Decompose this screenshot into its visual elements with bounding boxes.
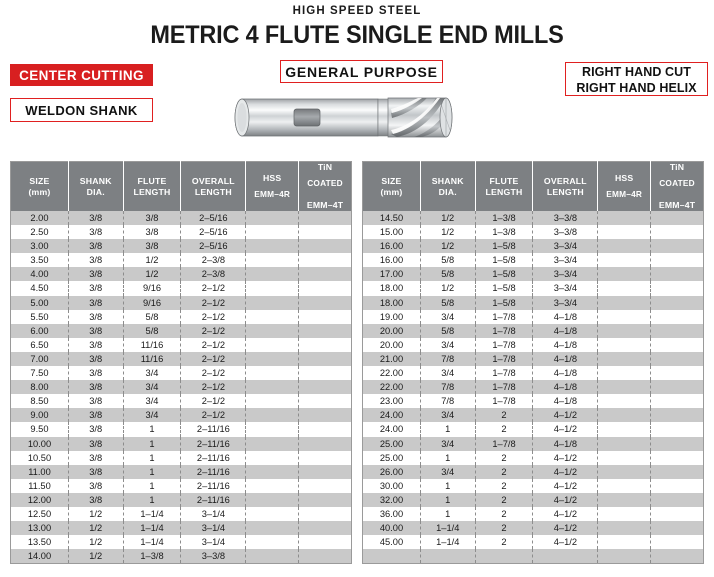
cell-hss [598,521,651,535]
column-header-size: SIZE(mm) [363,162,421,212]
cell-shank-dia: 3/8 [68,493,123,507]
table-row: 24.00124–1/2 [363,422,704,436]
table-row: 36.00124–1/2 [363,507,704,521]
cell-tin-coated [299,296,352,310]
cell-overall-length: 4–1/8 [533,437,598,451]
column-header-subtitle: DIA. [87,187,105,197]
cell-shank-dia: 3/4 [420,437,475,451]
cell-tin-coated [651,211,704,225]
column-header-overall-length: OVERALLLENGTH [533,162,598,212]
cell-hss [598,549,651,564]
cell-hss [246,281,299,295]
cell-size: 45.00 [363,535,421,549]
cell-tin-coated [651,408,704,422]
cell-size: 5.50 [11,310,69,324]
cell-flute-length: 1–7/8 [475,437,533,451]
cell-hss [246,239,299,253]
cell-flute-length: 1–7/8 [475,310,533,324]
cell-overall-length: 4–1/2 [533,479,598,493]
cell-tin-coated [651,479,704,493]
column-header-subtitle-2: EMM–4T [659,200,695,210]
cell-flute-length: 1–3/8 [475,211,533,225]
cell-shank-dia: 3/8 [68,408,123,422]
flute-section [388,98,452,137]
table-row: 4.503/89/162–1/2 [11,281,352,295]
cell-hss [598,281,651,295]
cell-size: 12.50 [11,507,69,521]
cell-size [363,549,421,564]
table-header-left: SIZE(mm)SHANKDIA.FLUTELENGTHOVERALLLENGT… [11,162,352,212]
cell-shank-dia: 1 [420,507,475,521]
table-row: 10.503/812–11/16 [11,451,352,465]
cell-hss [246,310,299,324]
cell-size: 24.00 [363,422,421,436]
column-header-subtitle: EMM–4R [247,189,297,200]
cell-shank-dia: 3/8 [68,366,123,380]
cell-hss [598,437,651,451]
cell-size: 25.00 [363,451,421,465]
cell-shank-dia: 1/2 [68,549,123,564]
column-header-title: SIZE [29,176,49,186]
cell-tin-coated [299,352,352,366]
cell-hss [246,535,299,549]
cell-overall-length: 3–3/4 [533,281,598,295]
column-header-subtitle: LENGTH [486,187,523,197]
cell-flute-length: 2 [475,493,533,507]
table-row: 4.003/81/22–3/8 [11,267,352,281]
column-header-tin-coated: TiNCOATEDEMM–4T [299,162,352,212]
cell-shank-dia: 3/8 [68,253,123,267]
cell-overall-length: 2–5/16 [181,211,246,225]
table-row: 9.503/812–11/16 [11,422,352,436]
cell-tin-coated [299,366,352,380]
cell-flute-length: 1–3/8 [475,225,533,239]
cell-hss [598,493,651,507]
cell-tin-coated [651,225,704,239]
badge-right-hand-cut-label: RIGHT HAND CUT [566,64,707,80]
cell-tin-coated [299,324,352,338]
cell-shank-dia: 1/2 [68,507,123,521]
cell-overall-length: 2–1/2 [181,366,246,380]
cell-shank-dia: 7/8 [420,352,475,366]
column-header-subtitle-2: EMM–4T [307,200,343,210]
badge-right-hand: RIGHT HAND CUT RIGHT HAND HELIX [565,62,708,96]
table-header-right: SIZE(mm)SHANKDIA.FLUTELENGTHOVERALLLENGT… [363,162,704,212]
cell-hss [598,380,651,394]
table-row: 18.005/81–5/83–3/4 [363,296,704,310]
cell-flute-length: 3/8 [123,211,181,225]
cell-flute-length: 1 [123,422,181,436]
column-header-flute-length: FLUTELENGTH [475,162,533,212]
column-header-subtitle: (mm) [380,187,402,197]
cell-size: 14.00 [11,549,69,564]
cell-size: 10.50 [11,451,69,465]
spec-tables-container: SIZE(mm)SHANKDIA.FLUTELENGTHOVERALLLENGT… [0,161,714,564]
table-row: 20.003/41–7/84–1/8 [363,338,704,352]
column-header-shank-dia: SHANKDIA. [68,162,123,212]
column-header-title: TiN [670,162,684,172]
cell-tin-coated [651,253,704,267]
cell-overall-length: 2–1/2 [181,296,246,310]
column-header-title: SHANK [432,176,464,186]
cell-overall-length: 2–1/2 [181,338,246,352]
cell-overall-length: 3–3/4 [533,253,598,267]
cell-overall-length [533,549,598,564]
cell-tin-coated [651,296,704,310]
table-row: 2.503/83/82–5/16 [11,225,352,239]
cell-hss [598,465,651,479]
cell-hss [246,296,299,310]
cell-tin-coated [299,479,352,493]
cell-shank-dia: 1/2 [68,535,123,549]
cell-shank-dia: 3/8 [68,267,123,281]
table-row: 5.003/89/162–1/2 [11,296,352,310]
cell-tin-coated [651,310,704,324]
header-row: SIZE(mm)SHANKDIA.FLUTELENGTHOVERALLLENGT… [363,162,704,212]
cell-tin-coated [651,465,704,479]
cell-overall-length: 3–3/4 [533,239,598,253]
cell-shank-dia: 3/8 [68,451,123,465]
cell-flute-length: 1–7/8 [475,324,533,338]
cell-size: 18.00 [363,281,421,295]
cell-size: 6.00 [11,324,69,338]
cell-overall-length: 2–5/16 [181,239,246,253]
cell-overall-length: 4–1/8 [533,352,598,366]
cell-size: 12.00 [11,493,69,507]
cell-flute-length: 1 [123,493,181,507]
column-header-hss: HSSEMM–4R [598,162,651,212]
table-row: 14.501/21–3/83–3/8 [363,211,704,225]
table-row: 8.003/83/42–1/2 [11,380,352,394]
cell-tin-coated [299,493,352,507]
cell-overall-length: 2–3/8 [181,253,246,267]
cell-hss [246,352,299,366]
table-body-right: 14.501/21–3/83–3/815.001/21–3/83–3/816.0… [363,211,704,564]
cell-size: 14.50 [363,211,421,225]
column-header-title: FLUTE [138,176,167,186]
cell-hss [598,267,651,281]
cell-tin-coated [299,465,352,479]
cell-shank-dia: 1/2 [68,521,123,535]
cell-tin-coated [299,394,352,408]
cell-shank-dia: 1 [420,493,475,507]
table-row: 20.005/81–7/84–1/8 [363,324,704,338]
cell-tin-coated [651,267,704,281]
cell-size: 16.00 [363,239,421,253]
cell-size: 9.00 [11,408,69,422]
cell-hss [246,253,299,267]
cell-hss [598,394,651,408]
cell-shank-dia: 5/8 [420,267,475,281]
table-row: 16.005/81–5/83–3/4 [363,253,704,267]
cell-tin-coated [299,422,352,436]
cell-shank-dia: 3/8 [68,239,123,253]
cell-shank-dia: 1 [420,422,475,436]
cell-tin-coated [299,380,352,394]
cell-shank-dia: 5/8 [420,324,475,338]
table-row: 13.501/21–1/43–1/4 [11,535,352,549]
cell-flute-length: 5/8 [123,324,181,338]
table-row: 12.003/812–11/16 [11,493,352,507]
column-header-hss: HSSEMM–4R [246,162,299,212]
badge-weldon-shank: WELDON SHANK [10,98,153,122]
cell-shank-dia: 5/8 [420,296,475,310]
column-header-subtitle: LENGTH [134,187,171,197]
cell-flute-length: 1–1/4 [123,507,181,521]
cell-flute-length: 1–7/8 [475,394,533,408]
cell-shank-dia: 1/2 [420,225,475,239]
cell-overall-length: 2–11/16 [181,422,246,436]
cell-hss [598,324,651,338]
cell-overall-length: 3–3/8 [533,211,598,225]
cell-tin-coated [299,310,352,324]
cell-size: 40.00 [363,521,421,535]
cell-hss [246,465,299,479]
cell-overall-length: 4–1/2 [533,535,598,549]
cell-size: 24.00 [363,408,421,422]
table-row: 13.001/21–1/43–1/4 [11,521,352,535]
column-header-title: HSS [263,173,281,183]
cell-shank-dia: 1/2 [420,211,475,225]
table-row: 32.00124–1/2 [363,493,704,507]
cell-flute-length: 1–1/4 [123,535,181,549]
table-row: 8.503/83/42–1/2 [11,394,352,408]
cell-size: 22.00 [363,366,421,380]
cell-tin-coated [299,451,352,465]
column-header-title: TiN [318,162,332,172]
cell-tin-coated [651,281,704,295]
cell-shank-dia: 5/8 [420,253,475,267]
cell-tin-coated [651,239,704,253]
table-row: 16.001/21–5/83–3/4 [363,239,704,253]
cell-shank-dia: 3/8 [68,281,123,295]
cell-shank-dia: 1/2 [420,239,475,253]
cell-shank-dia: 1–1/4 [420,535,475,549]
cell-tin-coated [651,394,704,408]
cell-overall-length: 2–5/16 [181,225,246,239]
cell-shank-dia: 1/2 [420,281,475,295]
cell-overall-length: 2–11/16 [181,493,246,507]
cell-size: 16.00 [363,253,421,267]
cell-size: 8.50 [11,394,69,408]
cell-flute-length: 1 [123,465,181,479]
table-row: 30.00124–1/2 [363,479,704,493]
table-row: 2.003/83/82–5/16 [11,211,352,225]
cell-tin-coated [299,507,352,521]
cell-shank-dia: 7/8 [420,380,475,394]
cell-flute-length: 9/16 [123,281,181,295]
table-body-left: 2.003/83/82–5/162.503/83/82–5/163.003/83… [11,211,352,564]
cell-overall-length: 4–1/8 [533,324,598,338]
column-header-subtitle: LENGTH [547,187,584,197]
table-row: 26.003/424–1/2 [363,465,704,479]
table-row: 6.003/85/82–1/2 [11,324,352,338]
cell-size: 18.00 [363,296,421,310]
cell-flute-length: 2 [475,479,533,493]
cell-shank-dia: 1 [420,451,475,465]
cell-hss [598,535,651,549]
cell-tin-coated [299,281,352,295]
cell-shank-dia: 3/8 [68,352,123,366]
cell-hss [246,267,299,281]
cell-hss [246,479,299,493]
cell-overall-length: 4–1/8 [533,338,598,352]
cell-flute-length: 1–1/4 [123,521,181,535]
cell-overall-length: 4–1/2 [533,408,598,422]
cell-overall-length: 4–1/8 [533,380,598,394]
cell-tin-coated [651,507,704,521]
cell-shank-dia: 3/8 [68,211,123,225]
cell-tin-coated [651,493,704,507]
cell-flute-length: 2 [475,535,533,549]
eyebrow-text: HIGH SPEED STEEL [0,0,714,17]
cell-overall-length: 2–11/16 [181,465,246,479]
badge-center-cutting: CENTER CUTTING [10,64,153,86]
cell-hss [246,437,299,451]
cell-hss [598,211,651,225]
table-row: 18.001/21–5/83–3/4 [363,281,704,295]
table-row: 11.003/812–11/16 [11,465,352,479]
cell-size: 3.00 [11,239,69,253]
cell-flute-length: 3/4 [123,366,181,380]
cell-overall-length: 4–1/2 [533,422,598,436]
cell-shank-dia: 3/8 [68,394,123,408]
cell-size: 8.00 [11,380,69,394]
cell-hss [246,211,299,225]
column-header-shank-dia: SHANKDIA. [420,162,475,212]
cell-shank-dia: 3/8 [68,225,123,239]
cell-hss [246,394,299,408]
table-row: 40.001–1/424–1/2 [363,521,704,535]
cell-hss [246,493,299,507]
cell-size: 22.00 [363,380,421,394]
cell-shank-dia: 3/4 [420,408,475,422]
end-mill-illustration [228,86,463,148]
cell-hss [598,408,651,422]
table-row: 22.007/81–7/84–1/8 [363,380,704,394]
cell-hss [598,366,651,380]
cell-overall-length: 2–1/2 [181,310,246,324]
cell-hss [598,338,651,352]
cell-overall-length: 4–1/8 [533,394,598,408]
cell-shank-dia [420,549,475,564]
cell-flute-length: 9/16 [123,296,181,310]
cell-shank-dia: 1 [420,479,475,493]
weldon-flat [294,109,320,126]
cell-hss [598,225,651,239]
cell-overall-length: 3–3/4 [533,296,598,310]
cell-flute-length: 1 [123,437,181,451]
column-header-subtitle: (mm) [28,187,50,197]
page-header: HIGH SPEED STEEL METRIC 4 FLUTE SINGLE E… [0,0,714,155]
cell-size: 11.50 [11,479,69,493]
column-header-title: FLUTE [490,176,519,186]
cell-size: 13.00 [11,521,69,535]
cell-flute-length [475,549,533,564]
cell-size: 4.00 [11,267,69,281]
cell-tin-coated [651,380,704,394]
cell-tin-coated [651,521,704,535]
cell-hss [246,380,299,394]
cell-overall-length: 3–3/8 [181,549,246,564]
cell-hss [598,479,651,493]
column-header-flute-length: FLUTELENGTH [123,162,181,212]
cell-hss [598,352,651,366]
table-row: 11.503/812–11/16 [11,479,352,493]
cell-overall-length: 4–1/2 [533,451,598,465]
cell-size: 15.00 [363,225,421,239]
cell-size: 19.00 [363,310,421,324]
cell-overall-length: 4–1/2 [533,465,598,479]
cell-flute-length: 3/4 [123,394,181,408]
cell-hss [246,225,299,239]
cell-hss [598,253,651,267]
cell-tin-coated [299,239,352,253]
cell-size: 30.00 [363,479,421,493]
cell-tin-coated [299,267,352,281]
cell-tin-coated [299,408,352,422]
cell-hss [246,521,299,535]
cell-flute-length: 2 [475,521,533,535]
column-header-tin-coated: TiNCOATEDEMM–4T [651,162,704,212]
cell-hss [246,451,299,465]
cell-tin-coated [651,437,704,451]
cell-tin-coated [651,352,704,366]
cell-overall-length: 2–1/2 [181,324,246,338]
cell-shank-dia: 3/8 [68,324,123,338]
cell-flute-length: 2 [475,451,533,465]
cell-size: 7.00 [11,352,69,366]
cell-overall-length: 3–1/4 [181,507,246,521]
cell-tin-coated [651,422,704,436]
cell-size: 10.00 [11,437,69,451]
spec-table-right: SIZE(mm)SHANKDIA.FLUTELENGTHOVERALLLENGT… [362,161,704,564]
column-header-title: HSS [615,173,633,183]
cell-size: 21.00 [363,352,421,366]
column-header-subtitle: EMM–4R [599,189,649,200]
cell-flute-length: 2 [475,422,533,436]
cell-overall-length: 4–1/8 [533,310,598,324]
cell-tin-coated [651,324,704,338]
table-row-blank [363,549,704,564]
cell-hss [246,324,299,338]
spec-table-left: SIZE(mm)SHANKDIA.FLUTELENGTHOVERALLLENGT… [10,161,352,564]
table-row: 10.003/812–11/16 [11,437,352,451]
column-header-title: SHANK [80,176,112,186]
cell-flute-length: 2 [475,465,533,479]
cell-shank-dia: 3/8 [68,422,123,436]
table-row: 15.001/21–3/83–3/8 [363,225,704,239]
cell-hss [246,408,299,422]
table-row: 7.003/811/162–1/2 [11,352,352,366]
cell-flute-length: 1–3/8 [123,549,181,564]
cell-flute-length: 3/8 [123,239,181,253]
cell-size: 11.00 [11,465,69,479]
cell-flute-length: 5/8 [123,310,181,324]
cell-shank-dia: 3/8 [68,479,123,493]
cell-size: 17.00 [363,267,421,281]
column-header-title: SIZE [381,176,401,186]
badge-right-hand-helix-label: RIGHT HAND HELIX [566,80,707,96]
cell-overall-length: 2–11/16 [181,479,246,493]
cell-flute-length: 1–7/8 [475,338,533,352]
cell-overall-length: 4–1/2 [533,507,598,521]
cell-tin-coated [651,451,704,465]
cell-shank-dia: 3/4 [420,366,475,380]
cell-overall-length: 2–3/8 [181,267,246,281]
column-header-subtitle: DIA. [439,187,457,197]
table-row: 24.003/424–1/2 [363,408,704,422]
